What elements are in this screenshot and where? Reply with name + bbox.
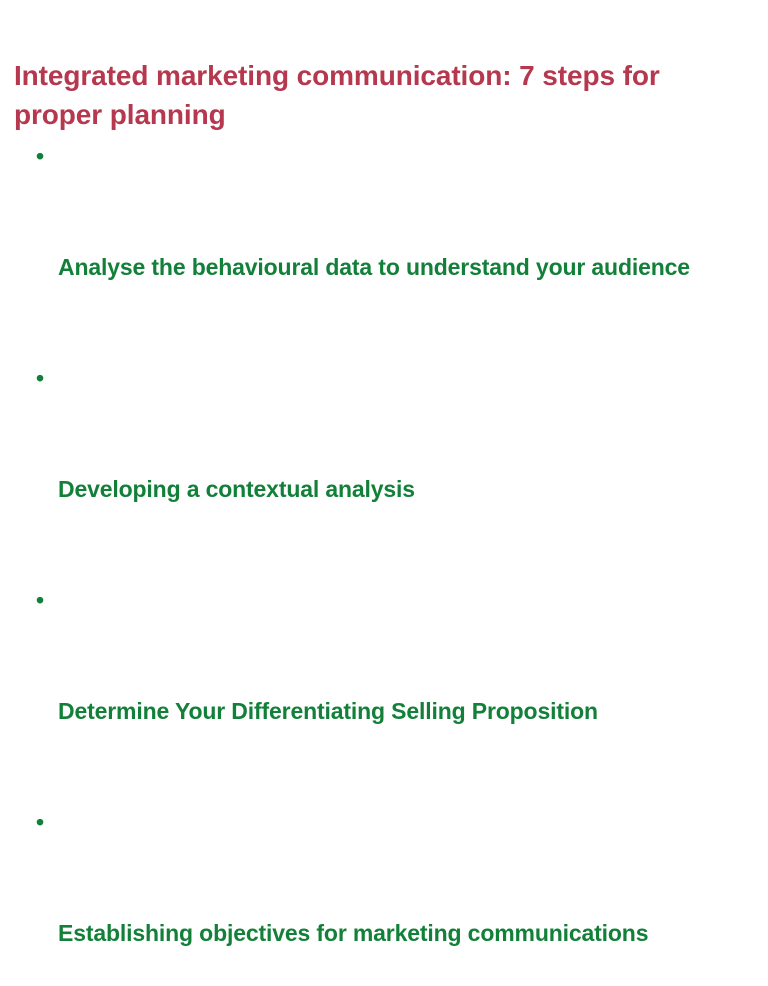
slide-canvas: Integrated marketing communication: 7 st…	[0, 0, 768, 493]
list-item-label: Developing a contextual analysis	[58, 471, 760, 508]
list-item-label: Determine Your Differentiating Selling P…	[58, 693, 760, 730]
bullet-marker-icon: •	[36, 360, 48, 397]
bullet-marker-icon: •	[36, 582, 48, 619]
page-title: Integrated marketing communication: 7 st…	[14, 56, 726, 134]
list-item: • Developing a contextual analysis	[0, 360, 768, 582]
list-item: • Establishing objectives for marketing …	[0, 804, 768, 986]
bullet-list: • Analyse the behavioural data to unders…	[0, 138, 768, 986]
list-item: • Determine Your Differentiating Selling…	[0, 582, 768, 804]
bullet-marker-icon: •	[36, 138, 48, 175]
list-item-label: Analyse the behavioural data to understa…	[58, 249, 760, 286]
bullet-marker-icon: •	[36, 804, 48, 841]
list-item-label: Establishing objectives for marketing co…	[58, 915, 760, 952]
list-item: • Analyse the behavioural data to unders…	[0, 138, 768, 360]
